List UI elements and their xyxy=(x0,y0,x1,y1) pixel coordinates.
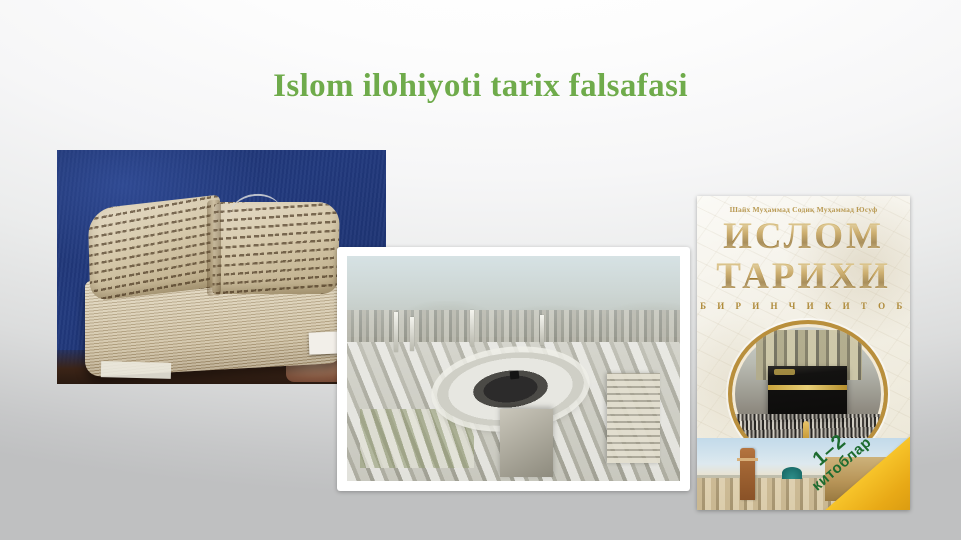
page-title: Islom ilohiyoti tarix falsafasi xyxy=(0,68,961,105)
presentation-slide: Islom ilohiyoti tarix falsafasi xyxy=(0,0,961,540)
book-spine xyxy=(207,200,221,297)
image-islom-tarixi-book-cover[interactable]: Шайх Муҳаммад Содиқ Муҳаммад Юсуф ИСЛОМ … xyxy=(697,196,910,510)
kaaba xyxy=(509,370,519,379)
minaret-icon xyxy=(394,312,398,352)
manuscript-book xyxy=(79,198,355,374)
pilgrim-figure xyxy=(803,421,809,439)
book-subtitle: Б И Р И Н Ч И К И Т О Б xyxy=(697,301,910,311)
turquoise-dome-icon xyxy=(782,467,802,479)
highrise-building xyxy=(607,373,660,463)
minaret-icon xyxy=(540,315,544,345)
photo-content xyxy=(347,256,680,481)
kalyan-minaret-icon xyxy=(740,448,755,500)
book-title-line-2: ТАРИХИ xyxy=(697,258,910,295)
minaret-icon xyxy=(410,317,414,351)
image-masjid-al-haram-aerial[interactable] xyxy=(337,247,690,491)
manuscript-left-page xyxy=(88,195,222,302)
kufic-script xyxy=(88,195,222,302)
museum-label-secondary xyxy=(101,361,171,379)
minaret-icon xyxy=(470,310,474,346)
foreground-building xyxy=(500,409,553,477)
book-author: Шайх Муҳаммад Содиқ Муҳаммад Юсуф xyxy=(697,205,910,214)
book-title-line-1: ИСЛОМ xyxy=(697,218,910,255)
